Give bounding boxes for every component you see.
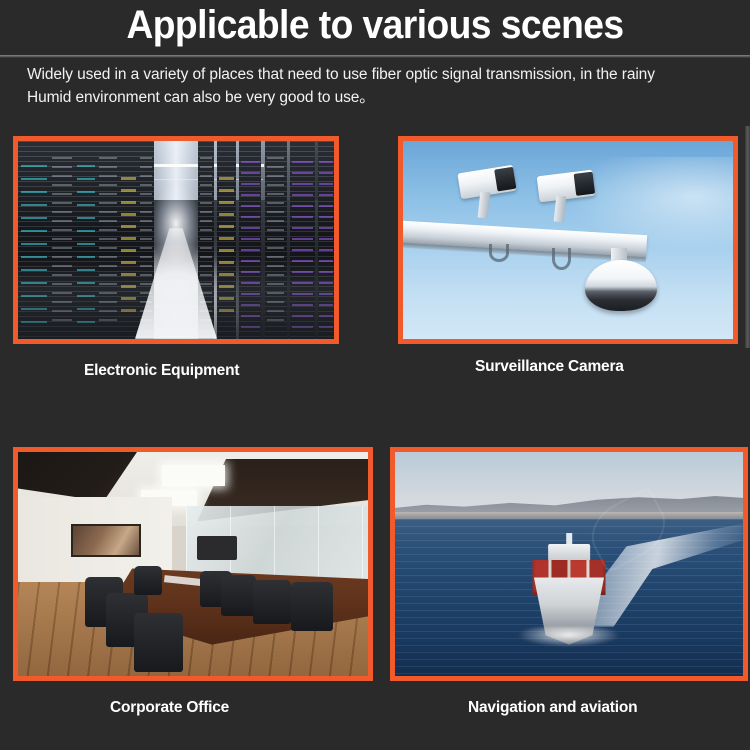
office-chair (253, 580, 292, 625)
ocean-background (395, 452, 743, 676)
container-ship-at-sea-photo (395, 452, 743, 676)
office-chair (221, 575, 256, 615)
office-chair (134, 566, 162, 595)
data-center-server-aisle-photo (18, 141, 334, 339)
photo-frame (13, 447, 373, 681)
intro-line-2: Humid environment can also be very good … (27, 86, 750, 109)
conference-room-interior-photo (18, 452, 368, 676)
cable-clamp (552, 248, 572, 270)
office-interior-background (18, 452, 368, 676)
scene-caption-navigation-and-aviation: Navigation and aviation (468, 699, 637, 717)
intro-paragraph: Widely used in a variety of places that … (27, 63, 750, 109)
cctv-cameras-on-pole-photo (403, 141, 733, 339)
dome-camera (585, 260, 658, 311)
title-divider (0, 55, 750, 58)
ceiling-light-panel (162, 465, 225, 485)
bow-foam (517, 627, 621, 647)
office-chair (134, 613, 183, 671)
blue-sky-background (403, 141, 733, 339)
photo-frame (390, 447, 748, 681)
scene-caption-electronic-equipment: Electronic Equipment (84, 362, 239, 380)
photo-frame (13, 136, 339, 344)
scene-caption-corporate-office: Corporate Office (110, 699, 229, 717)
right-edge-strip (745, 126, 750, 348)
camera-mount-arm (478, 192, 491, 219)
office-chair (291, 582, 333, 631)
photo-frame (398, 136, 738, 344)
wall-artwork (71, 524, 141, 558)
cable-clamp (489, 244, 509, 262)
server-room-background (18, 141, 334, 339)
page-title: Applicable to various scenes (26, 0, 724, 52)
intro-line-1: Widely used in a variety of places that … (27, 63, 750, 86)
scene-showcase-page: Applicable to various scenes Widely used… (0, 0, 750, 750)
scene-caption-surveillance-camera: Surveillance Camera (475, 358, 624, 376)
